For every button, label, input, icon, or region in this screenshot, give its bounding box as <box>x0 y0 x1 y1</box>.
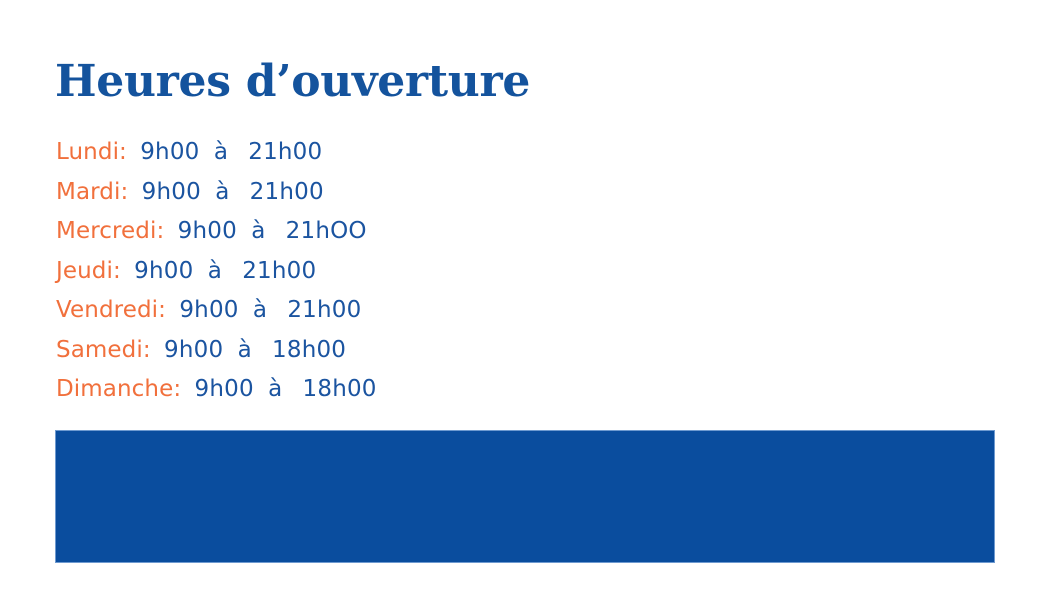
slide-canvas: Heures d’ouverture Lundi: 9h00 à 21h00 M… <box>0 0 1050 600</box>
time-separator: à <box>251 218 265 244</box>
time-separator: à <box>238 337 252 363</box>
closing-time: 18h00 <box>303 376 377 402</box>
list-item: Jeudi: 9h00 à 21h00 <box>56 252 377 292</box>
day-label: Lundi: <box>56 139 127 165</box>
time-separator: à <box>208 258 222 284</box>
time-separator: à <box>215 179 229 205</box>
closing-time: 21h00 <box>250 179 324 205</box>
time-separator: à <box>214 139 228 165</box>
day-label: Samedi: <box>56 337 151 363</box>
blue-content-block <box>55 430 995 563</box>
opening-hours-list: Lundi: 9h00 à 21h00 Mardi: 9h00 à 21h00 … <box>56 133 377 410</box>
opening-time: 9h00 <box>195 376 254 402</box>
opening-time: 9h00 <box>179 297 238 323</box>
day-label: Mercredi: <box>56 218 164 244</box>
closing-time: 21h00 <box>287 297 361 323</box>
list-item: Lundi: 9h00 à 21h00 <box>56 133 377 173</box>
day-label: Vendredi: <box>56 297 166 323</box>
opening-time: 9h00 <box>178 218 237 244</box>
time-separator: à <box>268 376 282 402</box>
list-item: Vendredi: 9h00 à 21h00 <box>56 291 377 331</box>
closing-time: 21h00 <box>242 258 316 284</box>
closing-time: 21h00 <box>248 139 322 165</box>
day-label: Jeudi: <box>56 258 121 284</box>
day-label: Mardi: <box>56 179 128 205</box>
list-item: Dimanche: 9h00 à 18h00 <box>56 370 377 410</box>
page-title: Heures d’ouverture <box>55 56 530 108</box>
opening-time: 9h00 <box>140 139 199 165</box>
opening-time: 9h00 <box>134 258 193 284</box>
day-label: Dimanche: <box>56 376 181 402</box>
time-separator: à <box>253 297 267 323</box>
list-item: Mardi: 9h00 à 21h00 <box>56 173 377 213</box>
opening-time: 9h00 <box>164 337 223 363</box>
opening-time: 9h00 <box>142 179 201 205</box>
list-item: Samedi: 9h00 à 18h00 <box>56 331 377 371</box>
list-item: Mercredi: 9h00 à 21hOO <box>56 212 377 252</box>
closing-time: 18h00 <box>272 337 346 363</box>
closing-time: 21hOO <box>286 218 367 244</box>
